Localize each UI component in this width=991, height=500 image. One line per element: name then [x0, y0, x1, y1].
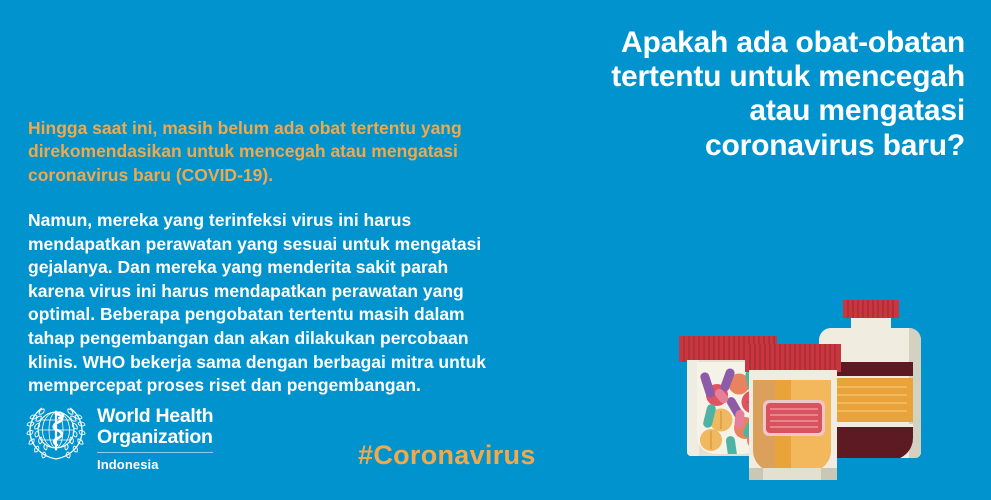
headline-line-2: tertentu untuk mencegah: [525, 60, 965, 94]
body-line-3: gejalanya. Dan mereka yang menderita sak…: [28, 256, 600, 280]
headline-line-1: Apakah ada obat-obatan: [525, 26, 965, 60]
body-line-8: mempercepat proses riset dan pengembanga…: [28, 374, 600, 398]
lead-line-2: direkomendasikan untuk mencegah atau men…: [28, 140, 600, 163]
body-paragraph: Namun, mereka yang terinfeksi virus ini …: [28, 209, 600, 397]
bottle-center: [745, 344, 841, 480]
body-line-4: karena virus ini harus mendapatkan peraw…: [28, 280, 600, 304]
body-line-6: tahap pengembangan dan akan dilakukan pe…: [28, 327, 600, 351]
body-line-5: optimal. Beberapa pengobatan tertentu ma…: [28, 303, 600, 327]
lead-line-1: Hingga saat ini, masih belum ada obat te…: [28, 117, 600, 140]
poster-canvas: Apakah ada obat-obatan tertentu untuk me…: [0, 0, 991, 500]
who-country-label: Indonesia: [97, 457, 213, 472]
medicine-bottles-illustration: [661, 300, 991, 500]
body-line-1: Namun, mereka yang terinfeksi virus ini …: [28, 209, 600, 233]
who-emblem-icon: [26, 402, 86, 462]
who-wordmark-line-1: World Health: [97, 406, 213, 427]
lead-paragraph: Hingga saat ini, masih belum ada obat te…: [28, 117, 600, 187]
body-line-7: klinis. WHO bekerja sama dengan berbagai…: [28, 351, 600, 375]
body-copy: Hingga saat ini, masih belum ada obat te…: [28, 117, 600, 398]
who-wordmark-line-2: Organization: [97, 427, 213, 448]
who-logo-divider: [97, 452, 213, 453]
who-wordmark: World Health Organization Indonesia: [97, 402, 213, 472]
lead-line-3: coronavirus baru (COVID-19).: [28, 164, 600, 187]
hashtag-label: #Coronavirus: [358, 440, 536, 471]
who-logo: World Health Organization Indonesia: [26, 402, 213, 472]
body-line-2: mendapatkan perawatan yang sesuai untuk …: [28, 233, 600, 257]
